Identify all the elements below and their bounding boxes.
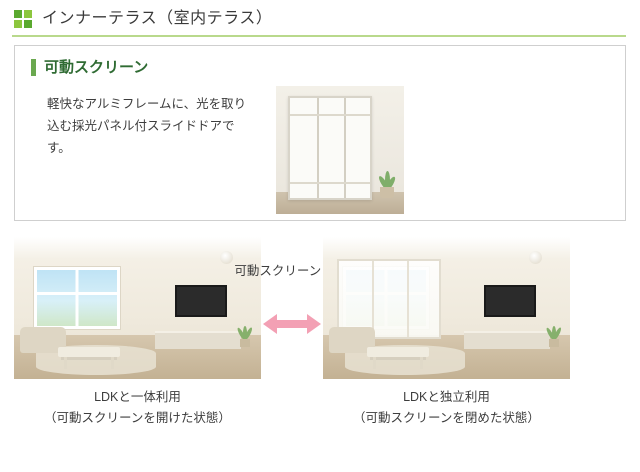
center-annotation: 可動スクリーン 開閉: [261, 237, 323, 379]
right-caption: LDKと独立利用 （可動スクリーンを閉めた状態）: [323, 387, 570, 430]
room-plant: [546, 325, 562, 347]
panel-description: 軽快なアルミフレームに、光を取り込む採光パネル付スライドドアです。: [47, 94, 257, 160]
right-caption-line2: （可動スクリーンを閉めた状態）: [323, 408, 570, 429]
panel-title-row: 可動スクリーン: [31, 59, 148, 76]
photo-sliding-door: [288, 96, 372, 200]
right-caption-line1: LDKと独立利用: [323, 387, 570, 408]
low-table: [58, 347, 120, 357]
page-title: インナーテラス（室内テラス）: [42, 11, 272, 27]
panel-title: 可動スクリーン: [44, 60, 148, 75]
left-caption-line1: LDKと一体利用: [14, 387, 261, 408]
center-label-line1: 可動スクリーン: [234, 264, 321, 278]
comparison-section: 可動スクリーン 開閉 LDKと一体利用 （可動スクリーンを開けた状態: [14, 237, 626, 459]
television: [175, 285, 227, 317]
room-window: [34, 267, 120, 329]
room-plant: [237, 325, 253, 347]
left-caption: LDKと一体利用 （可動スクリーンを開けた状態）: [14, 387, 261, 430]
tv-stand: [155, 331, 241, 349]
television: [484, 285, 536, 317]
header-divider: [12, 35, 626, 37]
ceiling-light-icon: [220, 251, 233, 264]
low-table: [367, 347, 429, 357]
double-arrow-icon: [263, 311, 321, 337]
movable-screen-door-photo: [276, 86, 404, 214]
green-bar-icon: [31, 59, 36, 76]
living-room-screen-closed-photo: [323, 237, 570, 379]
left-caption-line2: （可動スクリーンを開けた状態）: [14, 408, 261, 429]
tv-stand: [464, 331, 550, 349]
movable-screen-panel: 可動スクリーン 軽快なアルミフレームに、光を取り込む採光パネル付スライドドアです…: [14, 45, 626, 221]
grid-squares-icon: [14, 10, 32, 28]
living-room-screen-open-photo: [14, 237, 261, 379]
ceiling-light-icon: [529, 251, 542, 264]
photo-plant: [376, 164, 398, 198]
page-header: インナーテラス（室内テラス）: [0, 0, 640, 38]
